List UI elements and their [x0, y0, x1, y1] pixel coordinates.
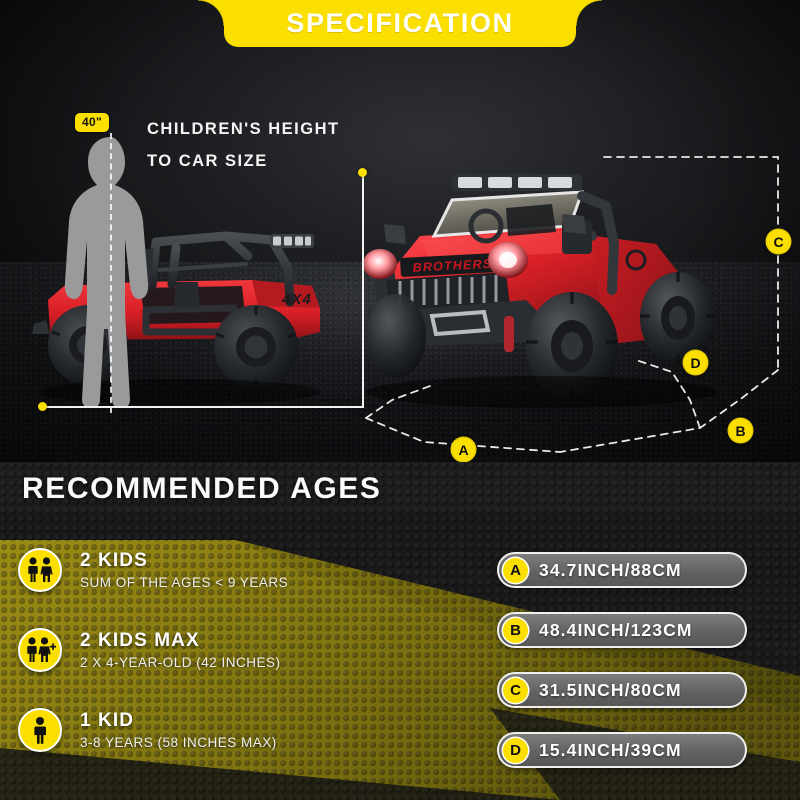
headline-line-2: TO CAR SIZE	[147, 152, 268, 171]
measure-line-right	[362, 172, 364, 408]
pill-letter-b: B	[503, 618, 528, 643]
age-row-two-kids: 2 KIDS SUM OF THE AGES < 9 YEARS	[18, 548, 288, 592]
height-badge: 40"	[75, 113, 109, 132]
age-title: 2 KIDS	[80, 550, 288, 572]
two-kids-icon	[18, 548, 62, 592]
dimension-pill-c[interactable]: C 31.5INCH/80CM	[497, 672, 747, 708]
height-measure-line	[110, 133, 112, 413]
dimension-marker-d[interactable]: D	[684, 351, 707, 374]
age-title: 2 KIDS MAX	[80, 630, 281, 652]
measure-dot-left	[38, 402, 47, 411]
pill-letter-d: D	[503, 738, 528, 763]
age-row-one-kid: 1 KID 3-8 YEARS (58 INCHES MAX)	[18, 708, 277, 752]
pill-value-c: 31.5INCH/80CM	[539, 680, 682, 701]
age-subtitle: SUM OF THE AGES < 9 YEARS	[80, 575, 288, 590]
dimension-marker-c[interactable]: C	[767, 230, 790, 253]
one-kid-icon	[18, 708, 62, 752]
ages-heading: RECOMMENDED AGES	[22, 472, 382, 506]
header-banner: SPECIFICATION	[0, 0, 800, 50]
dimension-pill-a[interactable]: A 34.7INCH/88CM	[497, 552, 747, 588]
pill-letter-a: A	[503, 558, 528, 583]
banner-title: SPECIFICATION	[286, 8, 513, 39]
dimension-pill-d[interactable]: D 15.4INCH/39CM	[497, 732, 747, 768]
banner-shape: SPECIFICATION	[224, 0, 576, 47]
pill-letter-c: C	[503, 678, 528, 703]
pill-value-b: 48.4INCH/123CM	[539, 620, 693, 641]
svg-text:4X4: 4X4	[281, 291, 312, 308]
age-title: 1 KID	[80, 710, 277, 732]
age-row-two-kids-max: 2 KIDS MAX 2 X 4-YEAR-OLD (42 INCHES)	[18, 628, 281, 672]
pill-value-a: 34.7INCH/88CM	[539, 560, 682, 581]
measure-dot-top	[358, 168, 367, 177]
spec-photo-section: 4X4	[0, 0, 800, 462]
pill-value-d: 15.4INCH/39CM	[539, 740, 682, 761]
two-kids-max-icon	[18, 628, 62, 672]
age-text-group: 2 KIDS MAX 2 X 4-YEAR-OLD (42 INCHES)	[80, 630, 281, 670]
dimension-pill-b[interactable]: B 48.4INCH/123CM	[497, 612, 747, 648]
measure-line-bottom	[42, 406, 364, 408]
dimension-marker-b[interactable]: B	[729, 419, 752, 442]
headline-line-1: CHILDREN'S HEIGHT	[147, 120, 340, 139]
dimension-marker-a[interactable]: A	[452, 438, 475, 461]
age-text-group: 1 KID 3-8 YEARS (58 INCHES MAX)	[80, 710, 277, 750]
age-text-group: 2 KIDS SUM OF THE AGES < 9 YEARS	[80, 550, 288, 590]
age-subtitle: 3-8 YEARS (58 INCHES MAX)	[80, 735, 277, 750]
specification-infographic: 4X4	[0, 0, 800, 800]
age-subtitle: 2 X 4-YEAR-OLD (42 INCHES)	[80, 655, 281, 670]
